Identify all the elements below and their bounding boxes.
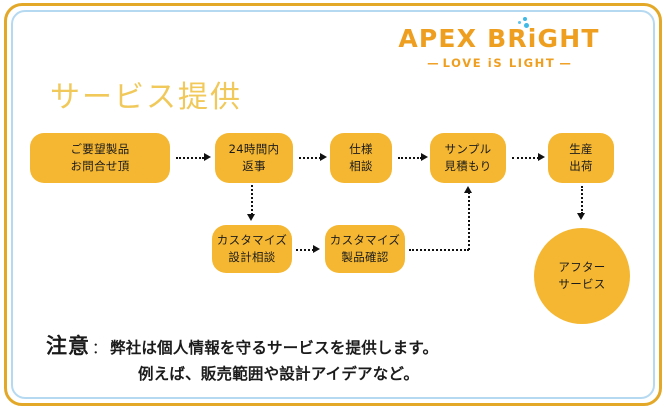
flow-node-custom-design-line2: 設計相談 — [228, 249, 275, 266]
flow-node-reply-24h-line2: 返事 — [242, 158, 266, 175]
note-label: 注意 — [46, 330, 90, 360]
connector-custom-confirm-to-sample-vertical — [468, 192, 470, 250]
flow-node-sample-quote-line1: サンプル — [445, 141, 492, 158]
arrowhead-reply-to-spec — [320, 153, 327, 161]
arrowhead-custom-confirm-to-sample — [464, 186, 472, 193]
brand-tagline: —LOVE iS LIGHT— — [384, 56, 614, 70]
arrowhead-production-to-after-service — [577, 213, 585, 220]
note-line-2: 例えば、販売範囲や設計アイデアなど。 — [138, 365, 419, 383]
connector-custom-design-to-confirm — [296, 249, 314, 251]
note-block: 注意 ： 弊社は個人情報を守るサービスを提供します。 例えば、販売範囲や設計アイ… — [46, 330, 606, 384]
flow-node-custom-confirm-line2: 製品確認 — [341, 249, 388, 266]
flow-node-sample-quote-line2: 見積もり — [444, 158, 491, 175]
note-row-2: 例えば、販売範囲や設計アイデアなど。 — [46, 362, 606, 384]
connector-reply-to-spec — [299, 157, 321, 159]
connector-inquiry-to-reply — [176, 157, 204, 159]
flow-node-spec-consult[interactable]: 仕様 相談 — [330, 133, 392, 183]
flow-node-inquiry[interactable]: ご要望製品 お問合せ頂 — [30, 133, 170, 183]
tagline-dash-right: — — [555, 56, 575, 70]
arrowhead-inquiry-to-reply — [204, 153, 211, 161]
flow-node-production-shipping[interactable]: 生産 出荷 — [548, 133, 614, 183]
flow-node-reply-24h-line1: 24時間内 — [229, 141, 280, 158]
flow-node-after-service-line1: アフター — [558, 259, 605, 276]
arrowhead-spec-to-sample — [421, 153, 428, 161]
arrowhead-custom-design-to-confirm — [313, 245, 320, 253]
flow-node-after-service-line2: サービス — [558, 276, 605, 293]
tagline-text: LOVE iS LIGHT — [443, 56, 556, 70]
flow-node-custom-confirm[interactable]: カスタマイズ 製品確認 — [325, 225, 405, 273]
flow-node-sample-quote[interactable]: サンプル 見積もり — [430, 133, 506, 183]
arrowhead-reply-to-custom-design — [247, 214, 255, 221]
connector-custom-confirm-to-sample-horizontal — [409, 249, 469, 251]
brand-logo: APEX BRiGHT —LOVE iS LIGHT— — [384, 26, 614, 70]
arrowhead-sample-to-production — [538, 153, 545, 161]
flow-node-inquiry-line2: お問合せ頂 — [71, 158, 130, 175]
flow-node-custom-confirm-line1: カスタマイズ — [330, 232, 400, 249]
flow-node-custom-design-line1: カスタマイズ — [217, 232, 287, 249]
connector-production-to-after-service — [581, 186, 583, 214]
flow-node-custom-design[interactable]: カスタマイズ 設計相談 — [212, 225, 292, 273]
sparkle-icon — [518, 17, 532, 29]
note-colon: ： — [90, 337, 110, 358]
page-title: サービス提供 — [50, 72, 242, 116]
flow-node-spec-consult-line2: 相談 — [349, 158, 373, 175]
flow-node-inquiry-line1: ご要望製品 — [71, 141, 130, 158]
flow-node-reply-24h[interactable]: 24時間内 返事 — [215, 133, 293, 183]
flow-node-production-shipping-line2: 出荷 — [569, 158, 593, 175]
flow-node-after-service[interactable]: アフター サービス — [534, 228, 630, 324]
brand-name: APEX BRiGHT — [398, 26, 599, 51]
flow-node-spec-consult-line1: 仕様 — [349, 141, 373, 158]
flow-node-production-shipping-line1: 生産 — [569, 141, 593, 158]
note-row-1: 注意 ： 弊社は個人情報を守るサービスを提供します。 — [46, 330, 606, 360]
connector-reply-to-custom-design — [251, 185, 253, 215]
connector-sample-to-production — [512, 157, 539, 159]
slide-canvas: APEX BRiGHT —LOVE iS LIGHT— サービス提供 ご要望製品… — [0, 0, 666, 409]
note-line-1: 弊社は個人情報を守るサービスを提供します。 — [110, 336, 438, 358]
tagline-dash-left: — — [423, 56, 443, 70]
connector-spec-to-sample — [398, 157, 422, 159]
